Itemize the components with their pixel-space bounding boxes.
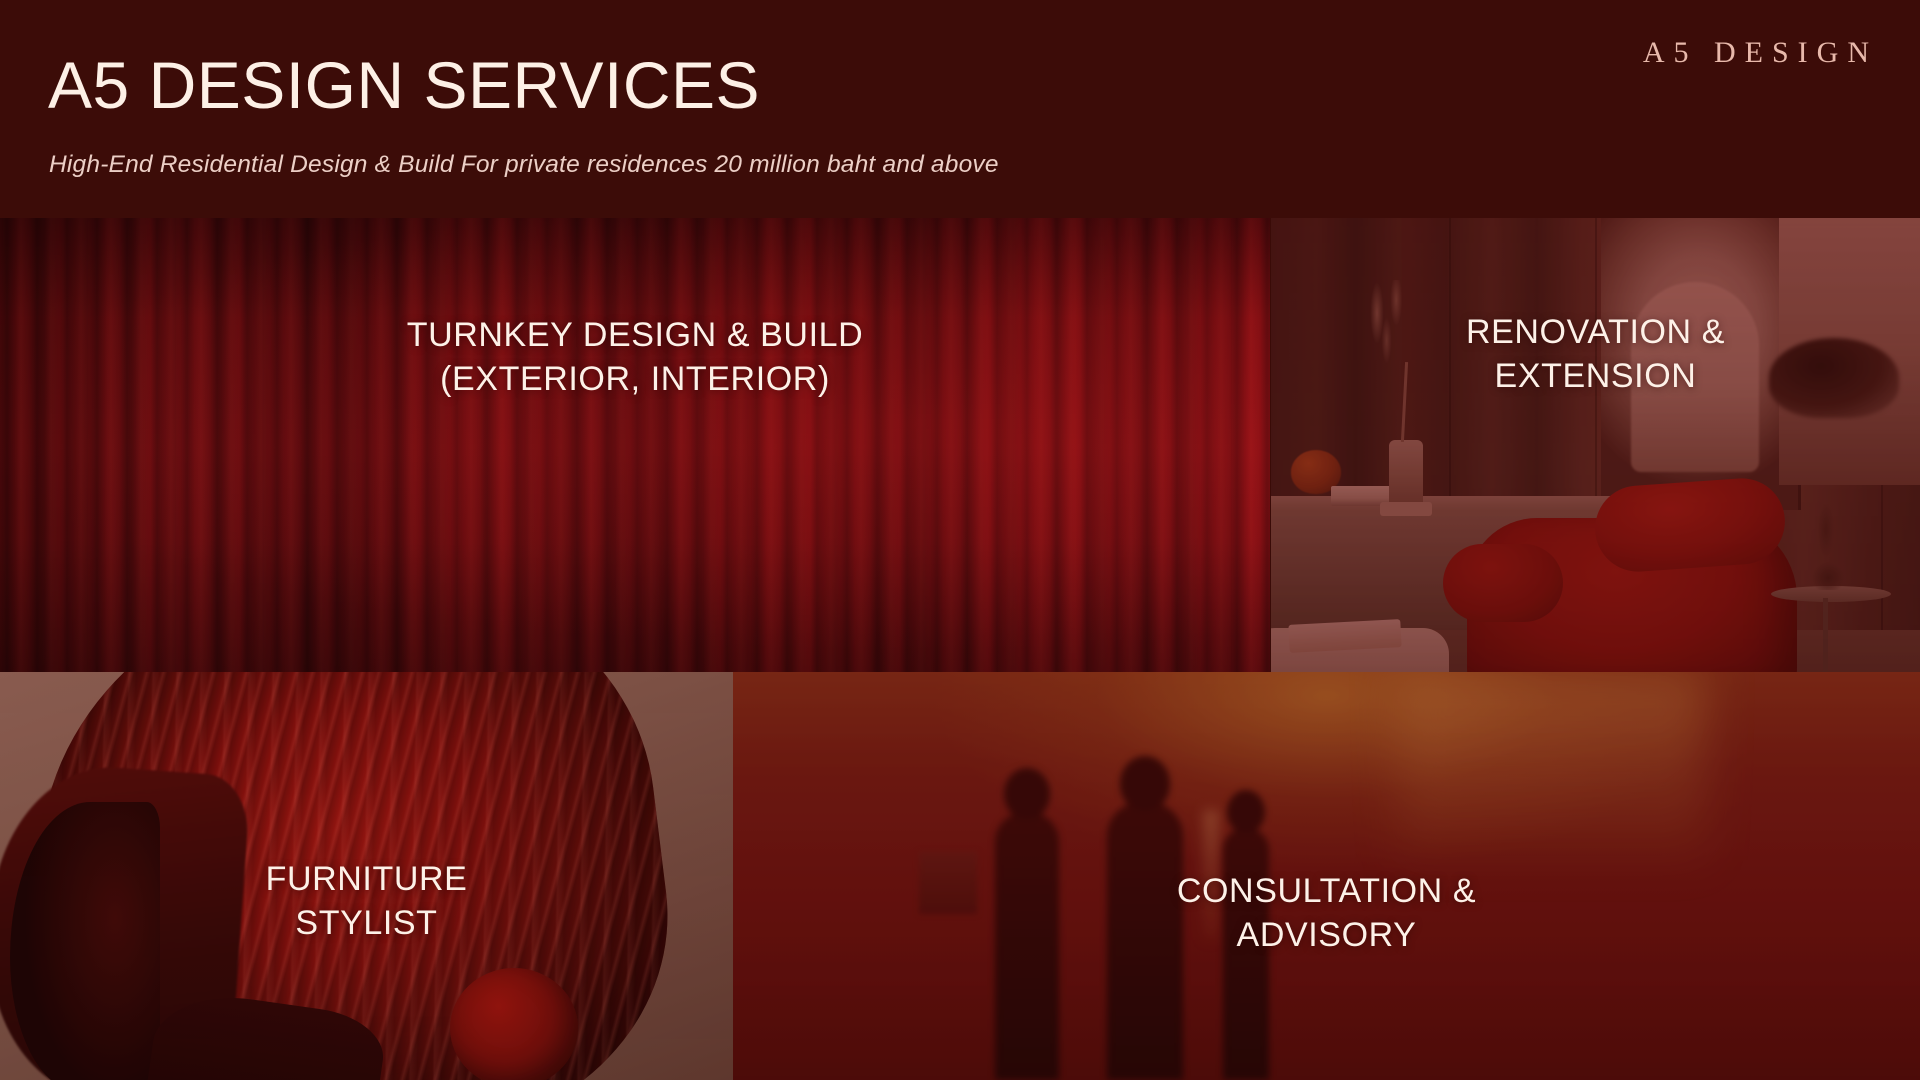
service-tile-label-consultation: CONSULTATION & ADVISORY — [733, 870, 1920, 957]
page-subtitle: High-End Residential Design & Build For … — [49, 153, 999, 178]
brand-logo: A5 DESIGN — [1643, 38, 1878, 68]
service-tile-label-furniture: FURNITURE STYLIST — [0, 858, 733, 945]
service-tile-label-renovation: RENOVATION & EXTENSION — [1271, 311, 1920, 398]
service-tile-label-turnkey: TURNKEY DESIGN & BUILD (EXTERIOR, INTERI… — [0, 314, 1270, 401]
page-title: A5 DESIGN SERVICES — [48, 52, 760, 118]
service-tile-renovation-extension[interactable]: RENOVATION & EXTENSION — [1271, 218, 1920, 673]
slide-header: A5 DESIGN SERVICES High-End Residential … — [0, 0, 1920, 218]
interior-room-artwork — [1271, 218, 1920, 673]
service-tile-consultation-advisory[interactable]: CONSULTATION & ADVISORY — [733, 672, 1920, 1080]
service-tile-grid: TURNKEY DESIGN & BUILD (EXTERIOR, INTERI… — [0, 218, 1920, 1080]
service-tile-furniture-stylist[interactable]: FURNITURE STYLIST — [0, 672, 733, 1080]
services-slide: A5 DESIGN SERVICES High-End Residential … — [0, 0, 1920, 1080]
curtain-red-overlay — [0, 218, 1270, 675]
service-tile-turnkey-design-build[interactable]: TURNKEY DESIGN & BUILD (EXTERIOR, INTERI… — [0, 218, 1270, 675]
curtain-artwork — [0, 218, 1270, 675]
red-tint — [1271, 218, 1920, 673]
